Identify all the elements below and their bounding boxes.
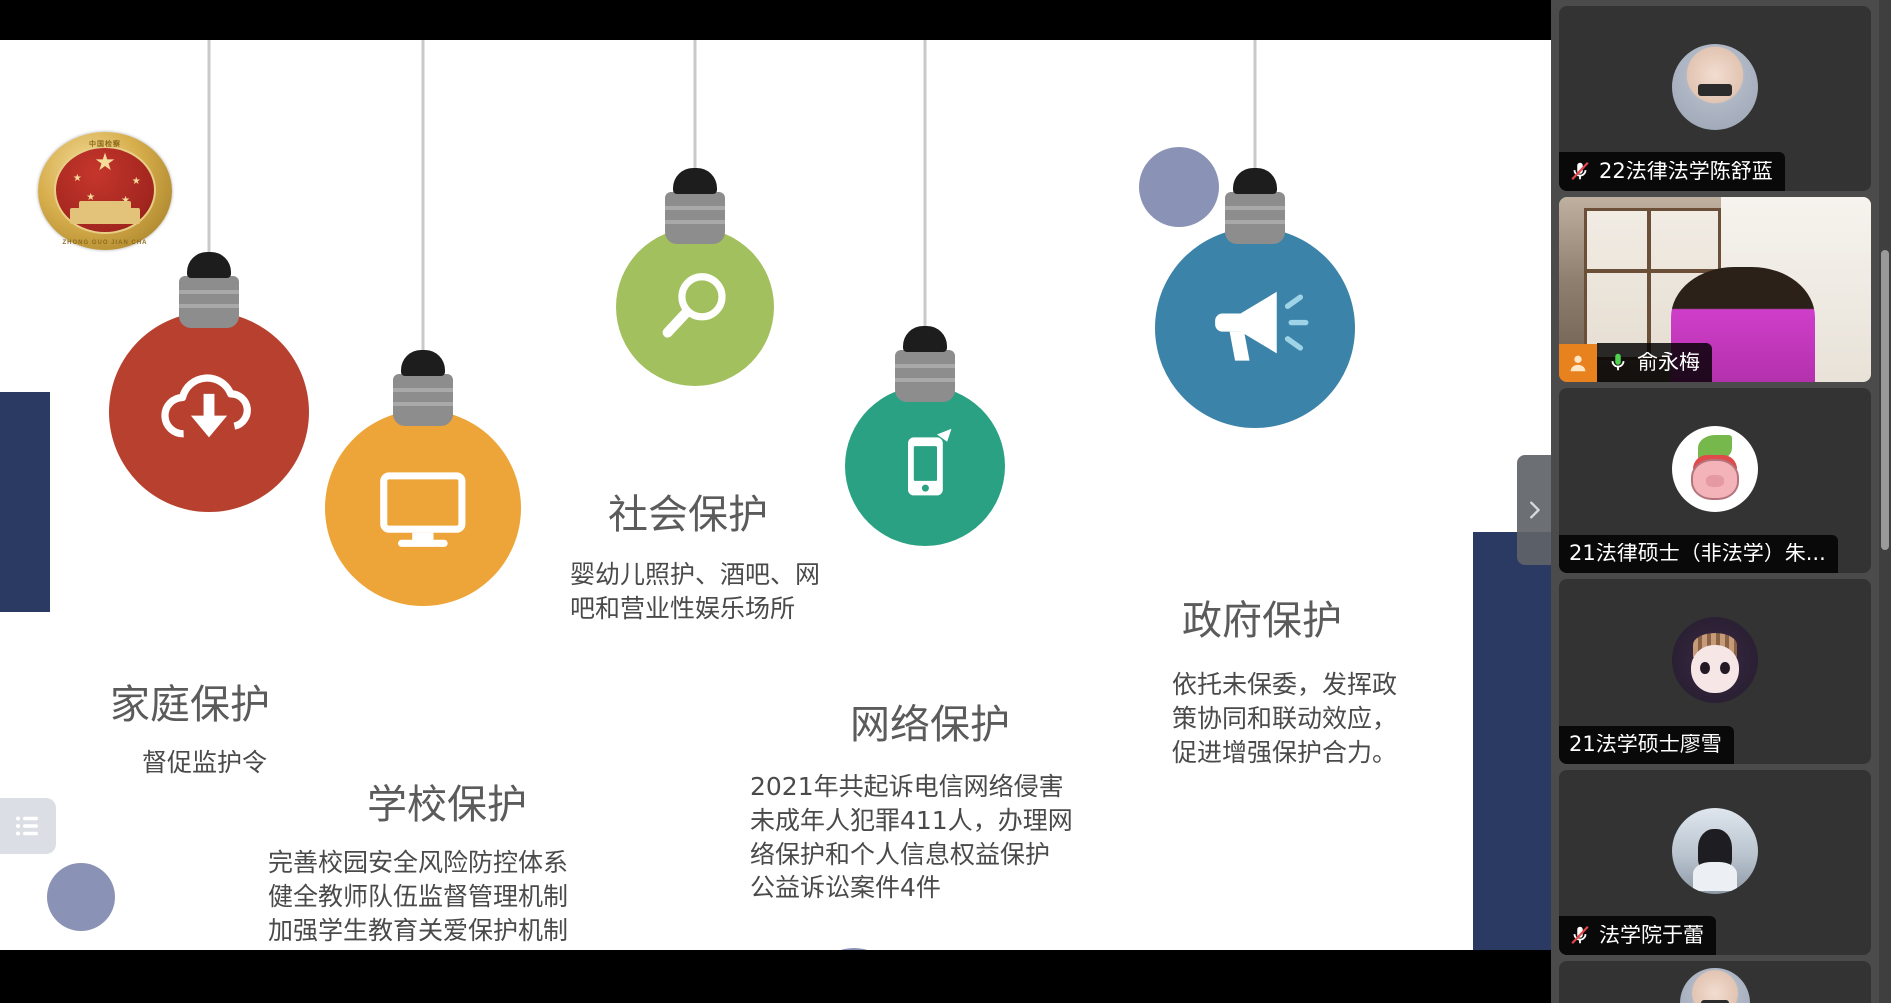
section-body-family: 督促监护令: [142, 746, 267, 780]
participant-nameplate: 俞永梅: [1597, 343, 1712, 382]
megaphone-icon: [1197, 270, 1313, 386]
cloud-download-icon: [151, 354, 267, 470]
host-badge: [1559, 344, 1597, 382]
meeting-window: 中国检察 ★ ★ ★ ★ ★ ZHONG GUO JIAN CHA: [0, 0, 1891, 1003]
participant-name: 21法律硕士（非法学）朱...: [1569, 543, 1826, 564]
section-title-school: 学校保护: [367, 772, 527, 830]
participant-name: 法学院于蕾: [1599, 925, 1704, 946]
participant-nameplate: 22法律法学陈舒蓝: [1559, 152, 1785, 191]
shared-screen-stage: 中国检察 ★ ★ ★ ★ ★ ZHONG GUO JIAN CHA: [0, 0, 1551, 1003]
avatar: [1680, 968, 1750, 1003]
participant-name: 俞永梅: [1637, 352, 1700, 373]
participant-nameplate: 21法学硕士廖雪: [1559, 726, 1734, 764]
presentation-slide: 中国检察 ★ ★ ★ ★ ★ ZHONG GUO JIAN CHA: [0, 40, 1551, 950]
participant-tile[interactable]: [1559, 961, 1871, 1003]
avatar: [1672, 808, 1758, 894]
avatar: [1672, 617, 1758, 703]
participant-tile[interactable]: 21法学硕士廖雪: [1559, 579, 1871, 764]
mic-active-icon: [1607, 351, 1629, 373]
section-body-social: 婴幼儿照护、酒吧、网 吧和营业性娱乐场所: [570, 558, 820, 626]
collapse-panel-button[interactable]: [1517, 455, 1551, 565]
participant-list: 22法律法学陈舒蓝: [1551, 0, 1879, 1003]
decor-circle-bottom-left: [47, 863, 115, 931]
monitor-icon: [366, 451, 480, 565]
smartphone-icon: [879, 420, 972, 513]
decor-navy-bar-right: [1473, 532, 1551, 950]
mic-muted-icon: [1569, 160, 1591, 182]
participant-nameplate: 法学院于蕾: [1559, 916, 1716, 955]
decor-navy-bar-left: [0, 392, 50, 612]
magnifier-icon: [649, 261, 741, 353]
chevron-right-icon: [1523, 499, 1545, 521]
emblem-bottom-text: ZHONG GUO JIAN CHA: [38, 240, 172, 246]
section-body-school: 完善校园安全风险防控体系 健全教师队伍监督管理机制 加强学生教育关爱保护机制: [268, 846, 568, 947]
participant-video-strip[interactable]: 22法律法学陈舒蓝: [1551, 0, 1891, 1003]
decor-circle-top-right: [1139, 147, 1219, 227]
emblem-top-text: 中国检察: [38, 139, 172, 149]
china-procuratorate-emblem-icon: 中国检察 ★ ★ ★ ★ ★ ZHONG GUO JIAN CHA: [38, 132, 172, 250]
mic-muted-icon: [1569, 924, 1591, 946]
participant-name: 22法律法学陈舒蓝: [1599, 161, 1773, 182]
participant-tile[interactable]: 22法律法学陈舒蓝: [1559, 6, 1871, 191]
list-menu-icon: [13, 811, 43, 841]
participant-tile[interactable]: 俞永梅: [1559, 197, 1871, 382]
participant-scrollbar-thumb[interactable]: [1881, 250, 1889, 550]
host-user-icon: [1567, 352, 1589, 374]
avatar: [1672, 44, 1758, 130]
avatar: [1672, 426, 1758, 512]
list-menu-button[interactable]: [0, 798, 56, 854]
participant-scrollbar[interactable]: [1879, 0, 1891, 1003]
decor-circle-bottom-center: [808, 948, 900, 950]
participant-tile[interactable]: 21法律硕士（非法学）朱...: [1559, 388, 1871, 573]
participant-nameplate: 21法律硕士（非法学）朱...: [1559, 535, 1838, 573]
section-body-network: 2021年共起诉电信网络侵害 未成年人犯罪411人，办理网 络保护和个人信息权益…: [750, 770, 1073, 905]
section-body-government: 依托未保委，发挥政 策协同和联动效应， 促进增强保护合力。: [1172, 668, 1397, 769]
section-title-social: 社会保护: [608, 482, 768, 540]
participant-name: 21法学硕士廖雪: [1569, 734, 1722, 755]
section-title-network: 网络保护: [850, 692, 1010, 750]
participant-tile[interactable]: 法学院于蕾: [1559, 770, 1871, 955]
section-title-family: 家庭保护: [110, 672, 270, 730]
section-title-government: 政府保护: [1182, 588, 1342, 646]
